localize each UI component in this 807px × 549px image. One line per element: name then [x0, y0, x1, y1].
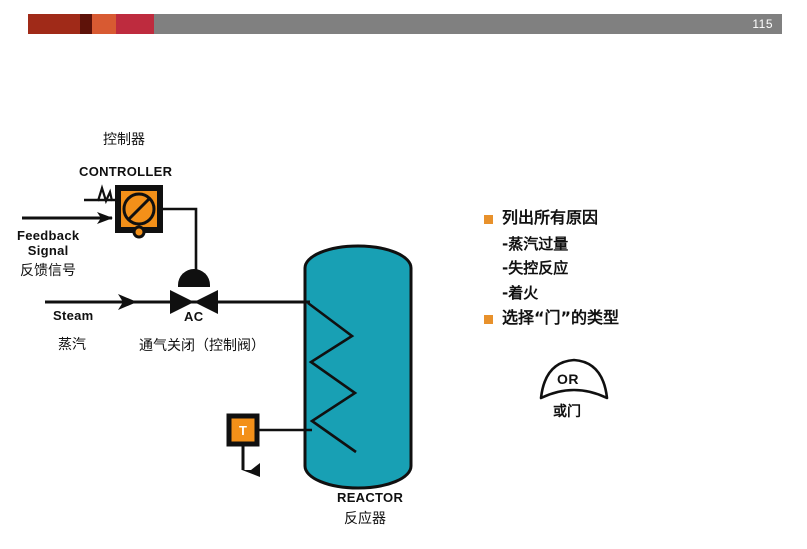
steam-label-cn: 蒸汽	[58, 337, 86, 353]
controller-output-line	[160, 209, 196, 271]
steam-label-en: Steam	[53, 309, 94, 324]
bullet-square-icon	[484, 215, 493, 224]
or-gate-label: OR	[557, 371, 579, 387]
slide-root: 115	[0, 0, 807, 549]
feedback-signal-label-en: Feedback Signal	[17, 229, 79, 259]
list-item: 列出所有原因	[484, 209, 744, 227]
controller-port	[134, 227, 144, 237]
list-item: -失控反应	[484, 260, 744, 277]
valve-actuator-dome	[178, 269, 210, 287]
control-valve-symbol	[170, 269, 218, 314]
sensor-letter-t: T	[231, 418, 255, 442]
controller-symbol	[118, 188, 160, 237]
valve-label-cn: 通气关闭（控制阀）	[139, 338, 265, 354]
feedback-signal-line2: Signal	[17, 244, 79, 259]
list-item: -蒸汽过量	[484, 236, 744, 253]
list-item-label: 选择“门”的类型	[502, 309, 619, 327]
controller-label-cn: 控制器	[103, 132, 145, 148]
notes-list: 列出所有原因 -蒸汽过量 -失控反应 -着火 选择“门”的类型	[484, 209, 744, 336]
valve-label-ac: AC	[184, 310, 203, 325]
list-item-label: -失控反应	[502, 260, 568, 277]
feedback-signal-line1: Feedback	[17, 229, 79, 244]
bullet-square-icon	[484, 315, 493, 324]
list-item: 选择“门”的类型	[484, 309, 744, 327]
reactor-label-cn: 反应器	[344, 511, 386, 527]
list-item-label: -蒸汽过量	[502, 236, 568, 253]
or-gate-label-cn: 或门	[553, 404, 581, 420]
list-item-label: 列出所有原因	[502, 209, 598, 227]
reactor-vessel	[305, 246, 411, 488]
list-item-label: -着火	[502, 285, 538, 302]
feedback-signal-label-cn: 反馈信号	[20, 263, 76, 279]
controller-label-en: CONTROLLER	[79, 165, 172, 180]
list-item: -着火	[484, 285, 744, 302]
reactor-label-en: REACTOR	[337, 491, 403, 506]
